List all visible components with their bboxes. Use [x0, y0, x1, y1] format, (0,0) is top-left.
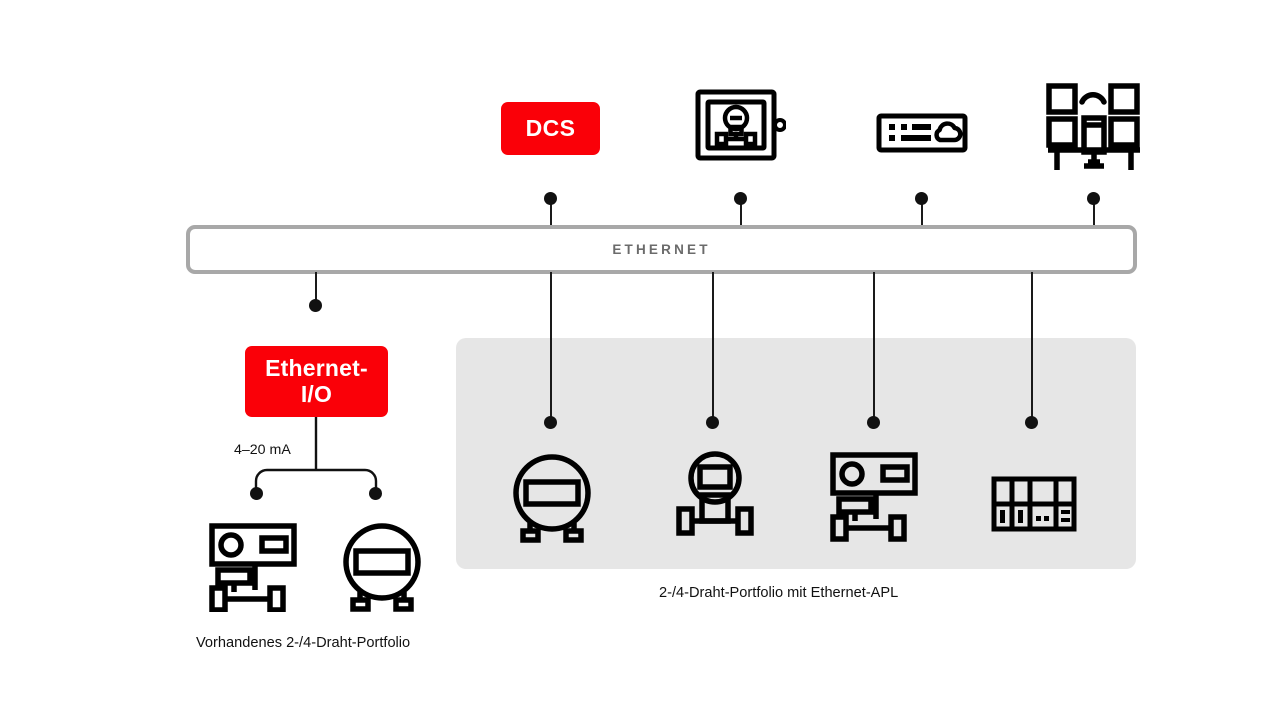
ethernet-io-label-line1: Ethernet-	[265, 355, 368, 381]
tablet-hmi-icon	[694, 88, 786, 162]
connector-dot-dcs-top	[544, 192, 557, 205]
radar-transmitter-icon-existing	[208, 522, 298, 612]
round-display-transmitter-icon-apl	[510, 453, 594, 543]
apl-portfolio-caption: 2-/4-Draht-Portfolio mit Ethernet-APL	[659, 585, 898, 601]
existing-portfolio-caption: Vorhandenes 2-/4-Draht-Portfolio	[196, 635, 410, 651]
radar-transmitter-icon-apl	[829, 451, 919, 543]
connector-dot-existing-right	[369, 487, 382, 500]
connector-line-apl-4	[1031, 272, 1033, 426]
io-terminal-block-icon-apl	[991, 476, 1077, 532]
dcs-label: DCS	[526, 116, 576, 142]
connector-dot-workstation-top	[1087, 192, 1100, 205]
ethernet-bus-label: ETHERNET	[190, 229, 1133, 270]
diagram-canvas: ETHERNET DCS	[0, 0, 1280, 720]
dcs-box[interactable]: DCS	[501, 102, 600, 155]
connector-line-apl-2	[712, 272, 714, 426]
round-display-transmitter-icon-existing	[340, 522, 424, 612]
connector-dot-gateway-top	[915, 192, 928, 205]
cloud-gateway-icon	[876, 113, 968, 153]
ethernet-bus-bar: ETHERNET	[186, 225, 1137, 274]
signal-type-label: 4–20 mA	[234, 442, 291, 458]
control-room-workstation-icon	[1045, 82, 1143, 172]
connector-dot-apl-1	[544, 416, 557, 429]
connector-dot-hmi-top	[734, 192, 747, 205]
connector-dot-existing-left	[250, 487, 263, 500]
connector-dot-apl-3	[867, 416, 880, 429]
ethernet-io-label-line2: I/O	[301, 381, 332, 407]
ethernet-io-box[interactable]: Ethernet- I/O	[245, 346, 388, 417]
pressure-transmitter-icon-apl	[676, 451, 754, 543]
connector-dot-apl-2	[706, 416, 719, 429]
connector-dot-apl-4	[1025, 416, 1038, 429]
connector-line-apl-3	[873, 272, 875, 426]
connector-dot-ethernet-io	[309, 299, 322, 312]
connector-line-apl-1	[550, 272, 552, 426]
